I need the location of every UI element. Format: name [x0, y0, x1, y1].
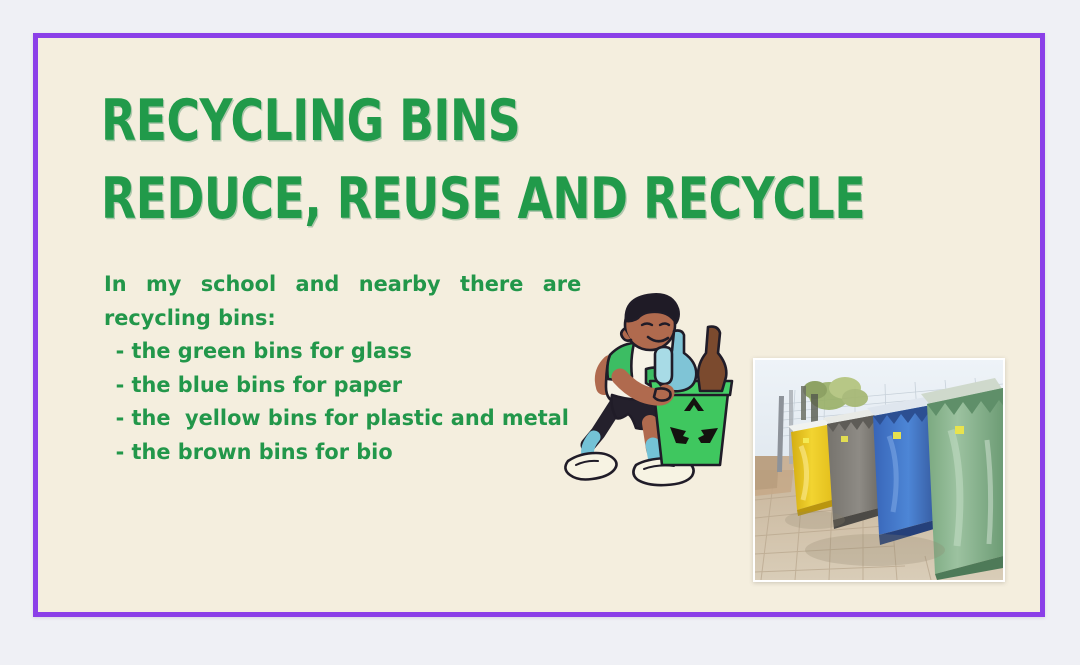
intro-paragraph: In my school and nearby there are recycl… — [104, 268, 581, 335]
slide: RECYCLING BINS REDUCE, REUSE AND RECYCLE… — [33, 33, 1045, 617]
photo-canvas — [755, 360, 1003, 580]
bullet-item-blue: - the blue bins for paper — [104, 369, 581, 403]
body-text-block: In my school and nearby there are recycl… — [104, 268, 596, 469]
title-block: RECYCLING BINS REDUCE, REUSE AND RECYCLE — [101, 90, 921, 230]
bullet-item-yellow: - the yellow bins for plastic and metal — [104, 402, 581, 436]
page-title: RECYCLING BINS — [101, 90, 757, 152]
bullet-item-green: - the green bins for glass — [104, 335, 581, 369]
bullet-item-brown: - the brown bins for bio — [104, 436, 581, 470]
recycling-bins-photo: Photograph of four wheelie bins lined up… — [753, 358, 1005, 582]
slide-content: RECYCLING BINS REDUCE, REUSE AND RECYCLE… — [38, 38, 1040, 612]
page-subtitle: REDUCE, REUSE AND RECYCLE — [101, 168, 757, 230]
boy-carrying-recycling-bin-illustration: Cartoon boy in green and white t-shirt a… — [558, 285, 740, 495]
